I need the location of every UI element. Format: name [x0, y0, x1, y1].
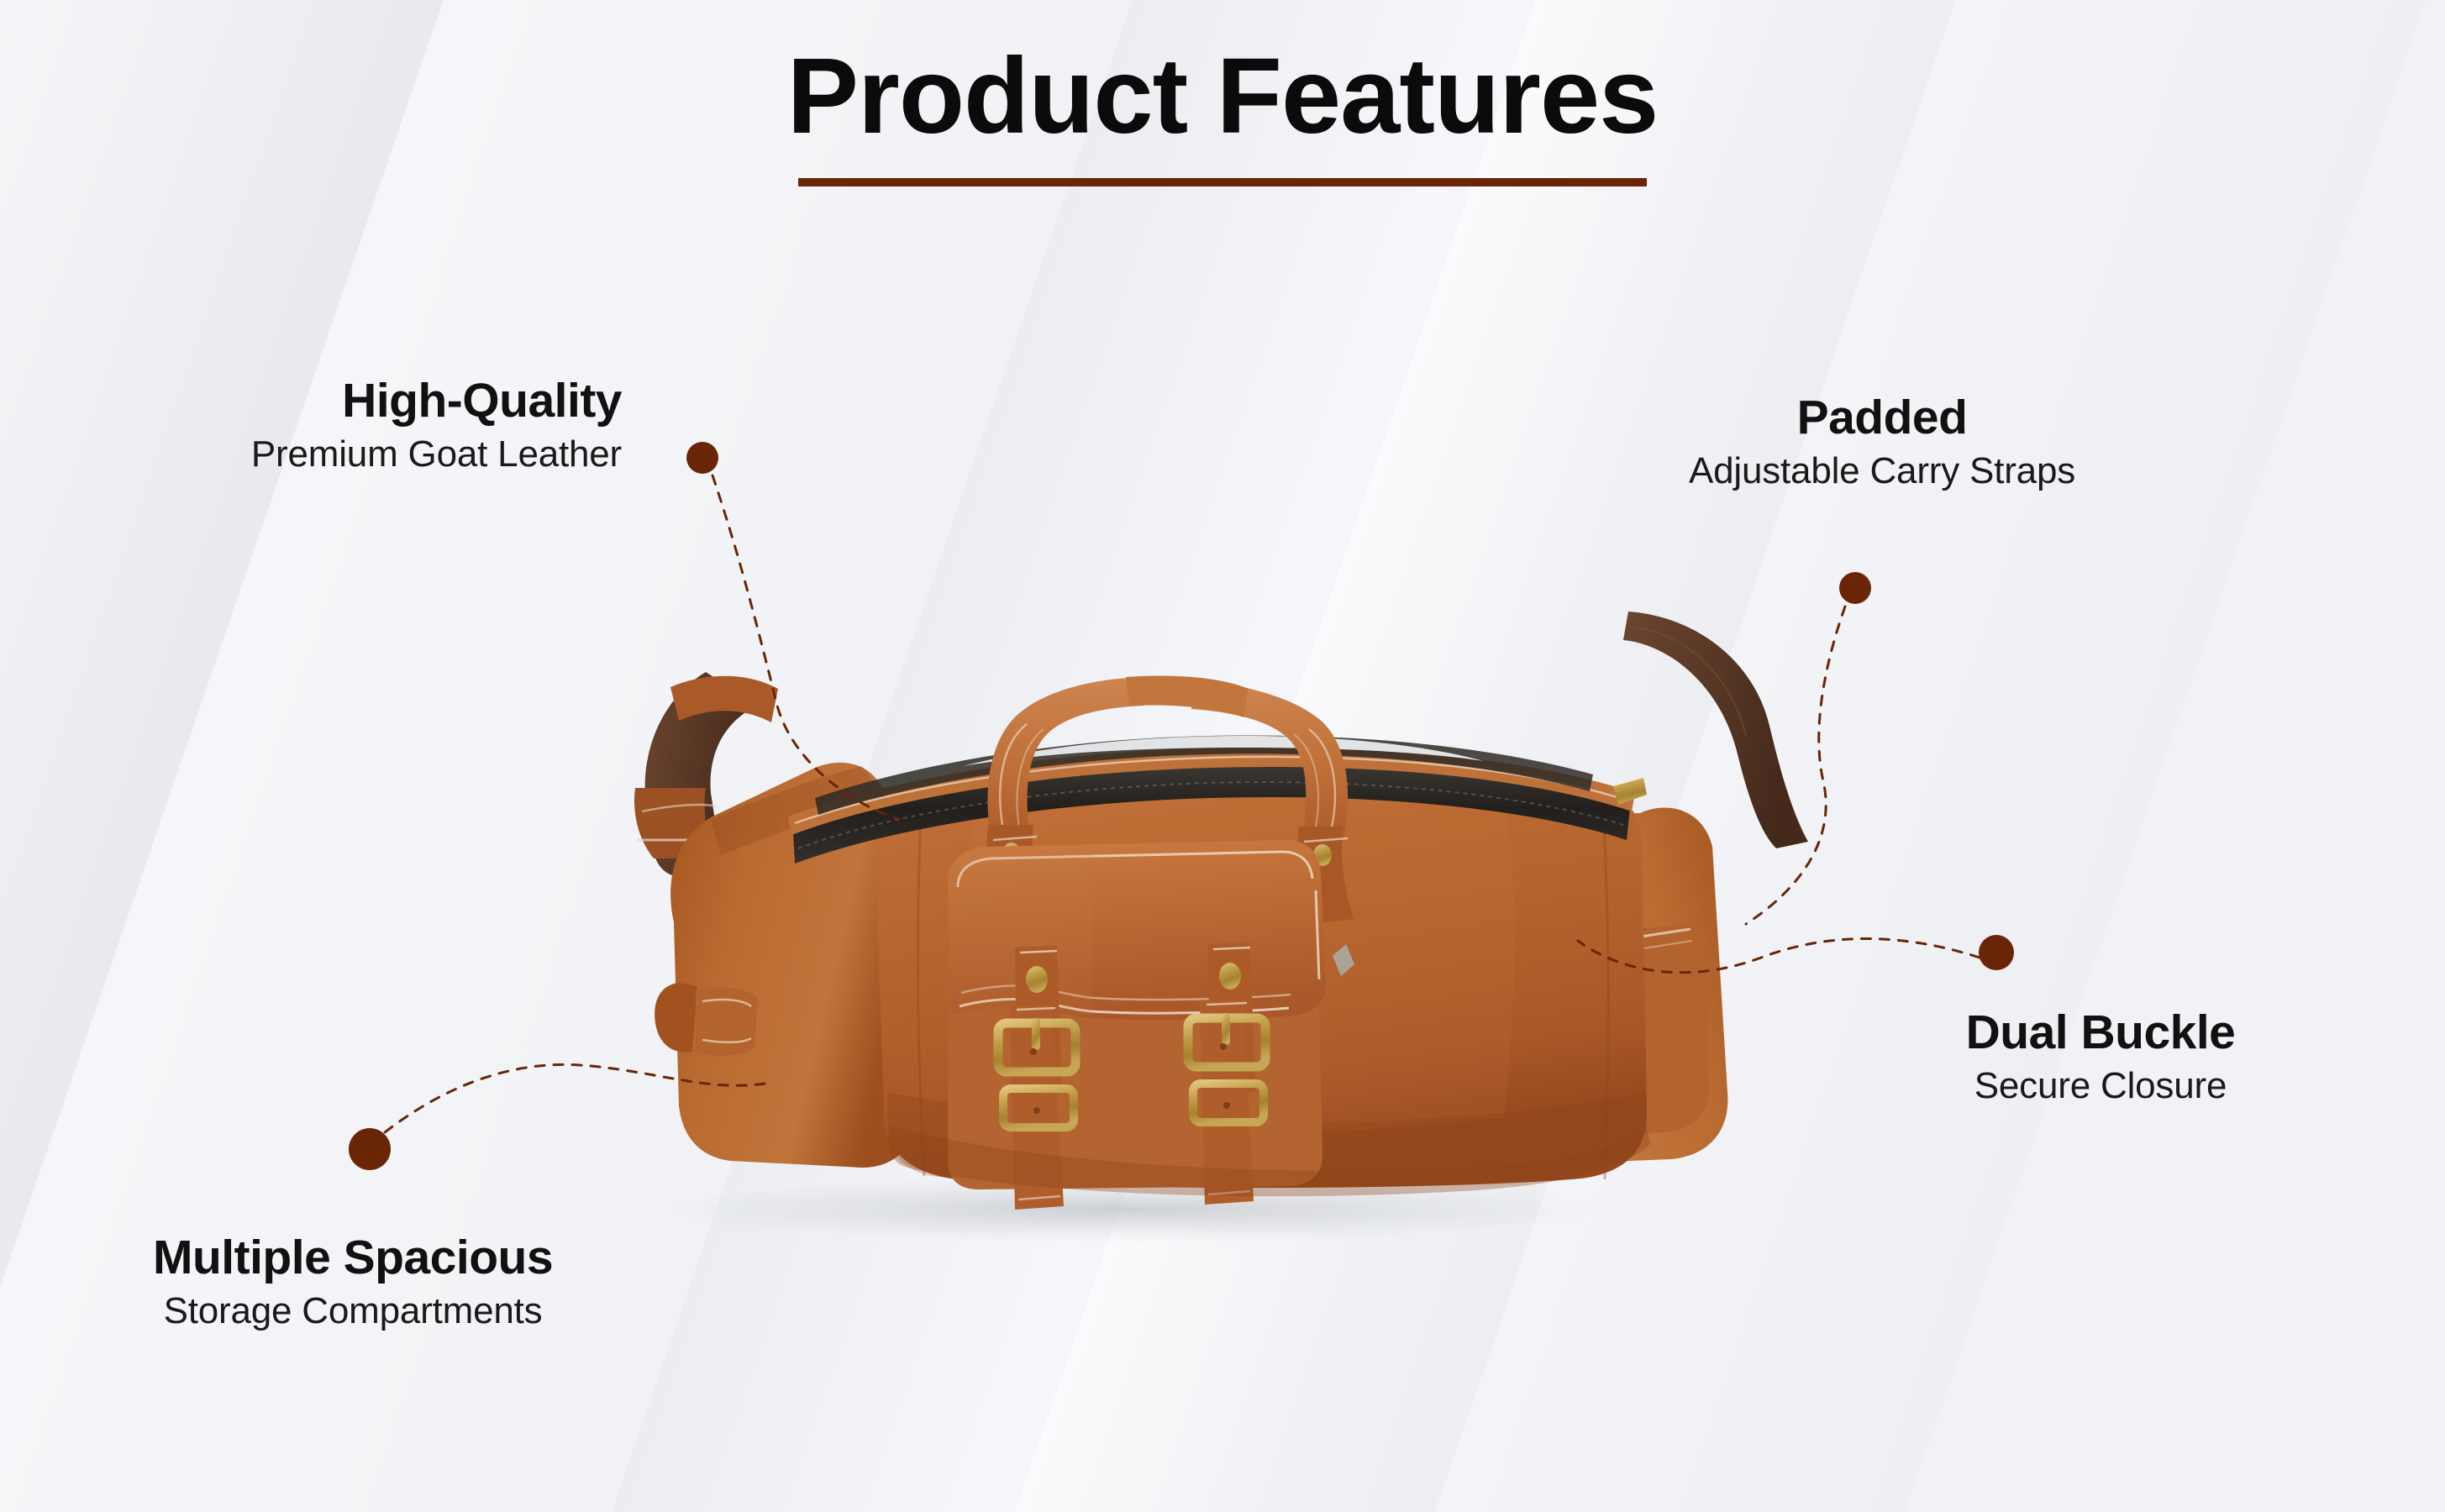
feature-title: High-Quality: [84, 376, 622, 427]
snap-rivet-right: [1219, 963, 1241, 990]
feature-subtitle: Adjustable Carry Straps: [1613, 450, 2151, 491]
product-image: [454, 588, 1865, 1243]
feature-label-multiple-spacious: Multiple Spacious Storage Compartments: [67, 1233, 639, 1331]
feature-subtitle: Premium Goat Leather: [84, 433, 622, 475]
feature-subtitle: Secure Closure: [1865, 1065, 2336, 1106]
feature-subtitle: Storage Compartments: [67, 1290, 639, 1331]
feature-label-dual-buckle: Dual Buckle Secure Closure: [1865, 1008, 2336, 1106]
feature-label-high-quality: High-Quality Premium Goat Leather: [84, 376, 622, 475]
feature-label-padded: Padded Adjustable Carry Straps: [1613, 393, 2151, 491]
title-block: Product Features: [0, 39, 2445, 186]
feature-title: Padded: [1613, 393, 2151, 444]
page-title: Product Features: [0, 39, 2445, 155]
title-underline: [798, 178, 1647, 186]
snap-rivet-left: [1026, 966, 1048, 993]
front-flap-pocket: [948, 840, 1326, 1189]
feature-title: Dual Buckle: [1865, 1008, 2336, 1058]
feature-title: Multiple Spacious: [67, 1233, 639, 1284]
